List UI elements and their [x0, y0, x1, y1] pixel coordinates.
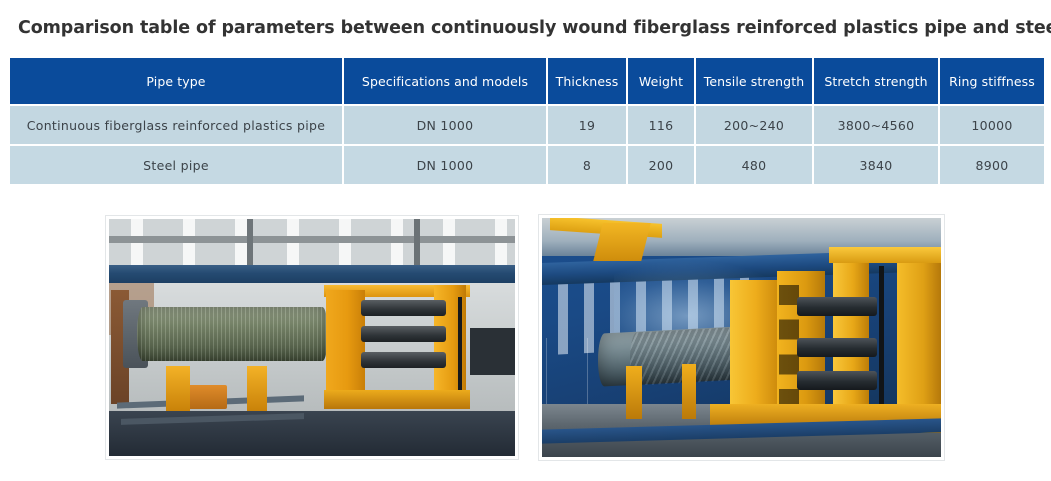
cell-pipe-type: Steel pipe [10, 146, 342, 184]
cell-ring-stiffness: 8900 [940, 146, 1044, 184]
cell-thickness: 8 [548, 146, 626, 184]
cell-pipe-type: Continuous fiberglass reinforced plastic… [10, 106, 342, 144]
cell-weight: 200 [628, 146, 694, 184]
column-header-thickness: Thickness [548, 58, 626, 104]
fiberglass-pipe-winding-machine-blue-hall-photo [538, 214, 945, 461]
photo-1-canvas [109, 219, 515, 456]
cell-tensile-strength: 200~240 [696, 106, 812, 144]
column-header-specifications: Specifications and models [344, 58, 546, 104]
table-row: Steel pipe DN 1000 8 200 480 3840 8900 [10, 146, 1044, 184]
photo-gallery [0, 214, 1051, 464]
fiberglass-pipe-winding-machine-workshop-photo [105, 215, 519, 460]
column-header-pipe-type: Pipe type [10, 58, 342, 104]
photo-2-canvas [542, 218, 941, 457]
column-header-stretch-strength: Stretch strength [814, 58, 938, 104]
page-title: Comparison table of parameters between c… [18, 18, 1038, 38]
comparison-table-page: Comparison table of parameters between c… [0, 0, 1051, 481]
cell-tensile-strength: 480 [696, 146, 812, 184]
comparison-table-container: Pipe type Specifications and models Thic… [10, 58, 1042, 184]
cell-ring-stiffness: 10000 [940, 106, 1044, 144]
table-header-row: Pipe type Specifications and models Thic… [10, 58, 1044, 104]
column-header-ring-stiffness: Ring stiffness [940, 58, 1044, 104]
table-row: Continuous fiberglass reinforced plastic… [10, 106, 1044, 144]
cell-specifications: DN 1000 [344, 146, 546, 184]
cell-specifications: DN 1000 [344, 106, 546, 144]
cell-thickness: 19 [548, 106, 626, 144]
comparison-table: Pipe type Specifications and models Thic… [8, 56, 1046, 186]
cell-stretch-strength: 3840 [814, 146, 938, 184]
cell-stretch-strength: 3800~4560 [814, 106, 938, 144]
column-header-tensile-strength: Tensile strength [696, 58, 812, 104]
column-header-weight: Weight [628, 58, 694, 104]
cell-weight: 116 [628, 106, 694, 144]
